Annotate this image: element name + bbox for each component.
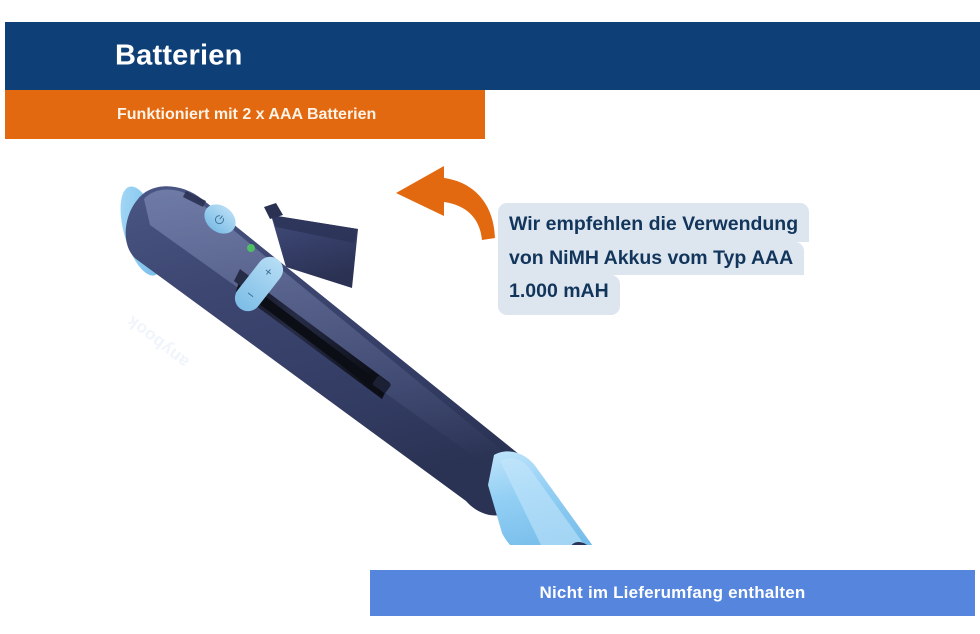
callout-line-1: Wir empfehlen die Verwendung — [498, 203, 809, 242]
subtitle-label: Funktioniert mit 2 x AAA Batterien — [117, 106, 376, 124]
footer-note-banner: Nicht im Lieferumfang enthalten — [370, 570, 975, 616]
recommendation-callout: Wir empfehlen die Verwendung von NiMH Ak… — [498, 203, 858, 315]
svg-text:anybook: anybook — [123, 312, 193, 372]
curved-arrow-left-icon — [382, 164, 500, 242]
page-title: Batterien — [115, 40, 243, 73]
callout-line-2: von NiMH Akkus vom Typ AAA — [498, 242, 804, 276]
footer-note-label: Nicht im Lieferumfang enthalten — [540, 583, 806, 603]
device-tip — [488, 451, 601, 545]
product-info-slide: Batterien Funktioniert mit 2 x AAA Batte… — [0, 0, 980, 634]
status-led-icon — [247, 244, 255, 252]
callout-line-3: 1.000 mAH — [498, 275, 620, 315]
product-brand-label: anybook — [123, 312, 193, 372]
subtitle-banner: Funktioniert mit 2 x AAA Batterien — [5, 90, 485, 139]
title-banner: Batterien — [5, 22, 980, 90]
